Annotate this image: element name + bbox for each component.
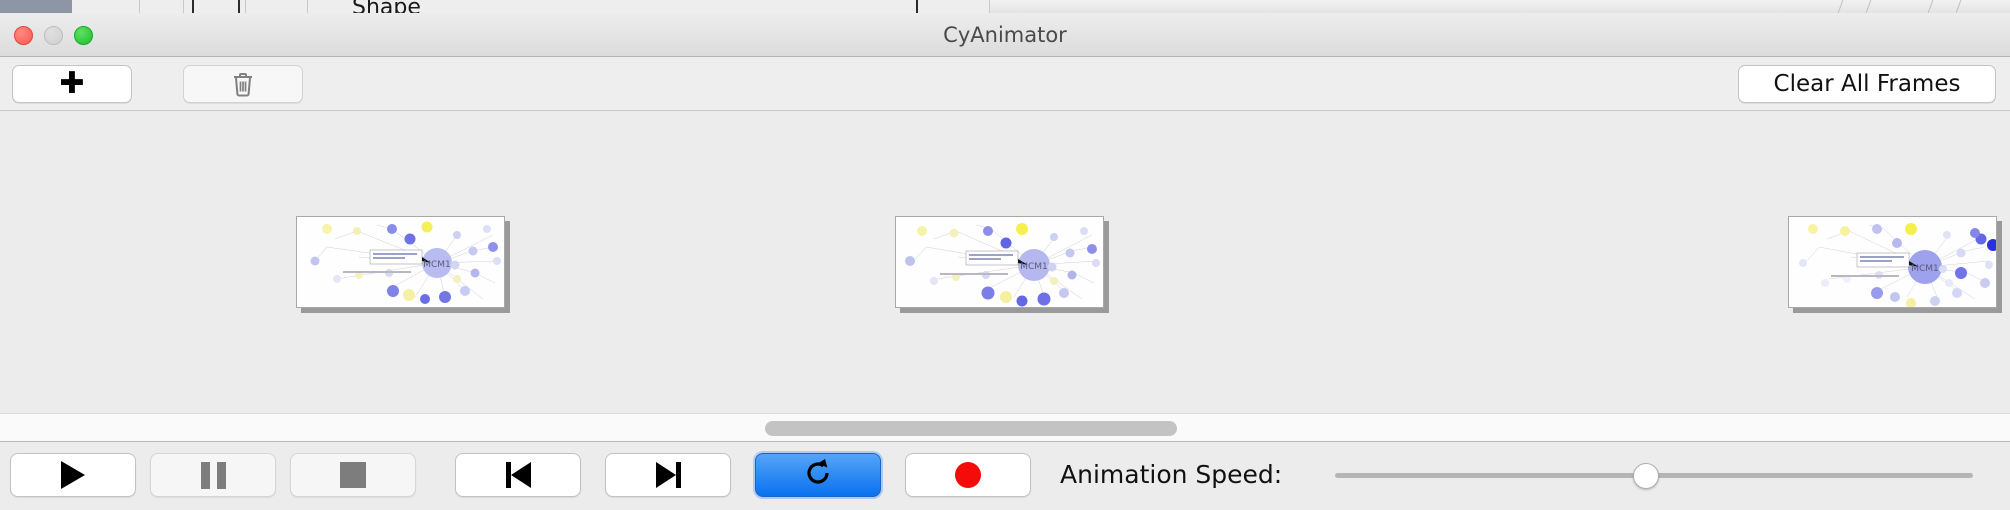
toolbar: ✚ Clear All Frames (0, 57, 2010, 110)
timeline-panel[interactable]: MCM1 (0, 111, 2010, 413)
stop-icon (340, 462, 366, 488)
timeline-scrollbar[interactable] (0, 413, 2010, 442)
play-button[interactable] (10, 453, 136, 497)
record-button[interactable] (905, 453, 1031, 497)
svg-text:MCM1: MCM1 (423, 260, 451, 270)
background-window-strip: Shape (0, 0, 2010, 13)
loop-icon (803, 458, 833, 492)
frame-thumbnail: MCM1 (895, 216, 1104, 308)
timeline-frame-2[interactable]: MCM1 (895, 216, 1109, 312)
play-icon (61, 461, 85, 489)
playback-controls: Animation Speed: (0, 442, 2010, 510)
timeline-frame-1[interactable]: MCM1 (296, 216, 510, 312)
pause-button[interactable] (150, 453, 276, 497)
window-title: CyAnimator (0, 13, 2010, 57)
pause-icon (201, 462, 226, 489)
slider-thumb[interactable] (1633, 463, 1659, 489)
animation-speed-label: Animation Speed: (1060, 453, 1282, 497)
previous-button[interactable] (455, 453, 581, 497)
trash-icon (231, 71, 255, 97)
add-frame-button[interactable]: ✚ (12, 65, 132, 103)
titlebar: CyAnimator (0, 13, 2010, 57)
scrollbar-thumb[interactable] (765, 421, 1177, 436)
svg-text:MCM1: MCM1 (1020, 262, 1048, 272)
frame-thumbnail: MCM1 (296, 216, 505, 308)
timeline-frame-3[interactable]: MCM1 (1788, 216, 2002, 312)
next-button[interactable] (605, 453, 731, 497)
background-window-titlebar (0, 0, 72, 13)
frame-thumbnail: MCM1 (1788, 216, 1997, 308)
svg-text:MCM1: MCM1 (1911, 264, 1939, 274)
cyanimator-window: Shape CyAnimator ✚ (0, 0, 2010, 510)
record-icon (955, 462, 981, 488)
delete-frame-button[interactable] (183, 65, 303, 103)
background-window-label: Shape (352, 0, 421, 13)
animation-speed-slider[interactable] (1335, 453, 1973, 497)
clear-all-frames-button[interactable]: Clear All Frames (1738, 65, 1996, 103)
loop-button[interactable] (755, 453, 881, 497)
plus-icon: ✚ (59, 69, 84, 99)
skip-back-icon (506, 462, 531, 488)
skip-forward-icon (656, 462, 681, 488)
stop-button[interactable] (290, 453, 416, 497)
